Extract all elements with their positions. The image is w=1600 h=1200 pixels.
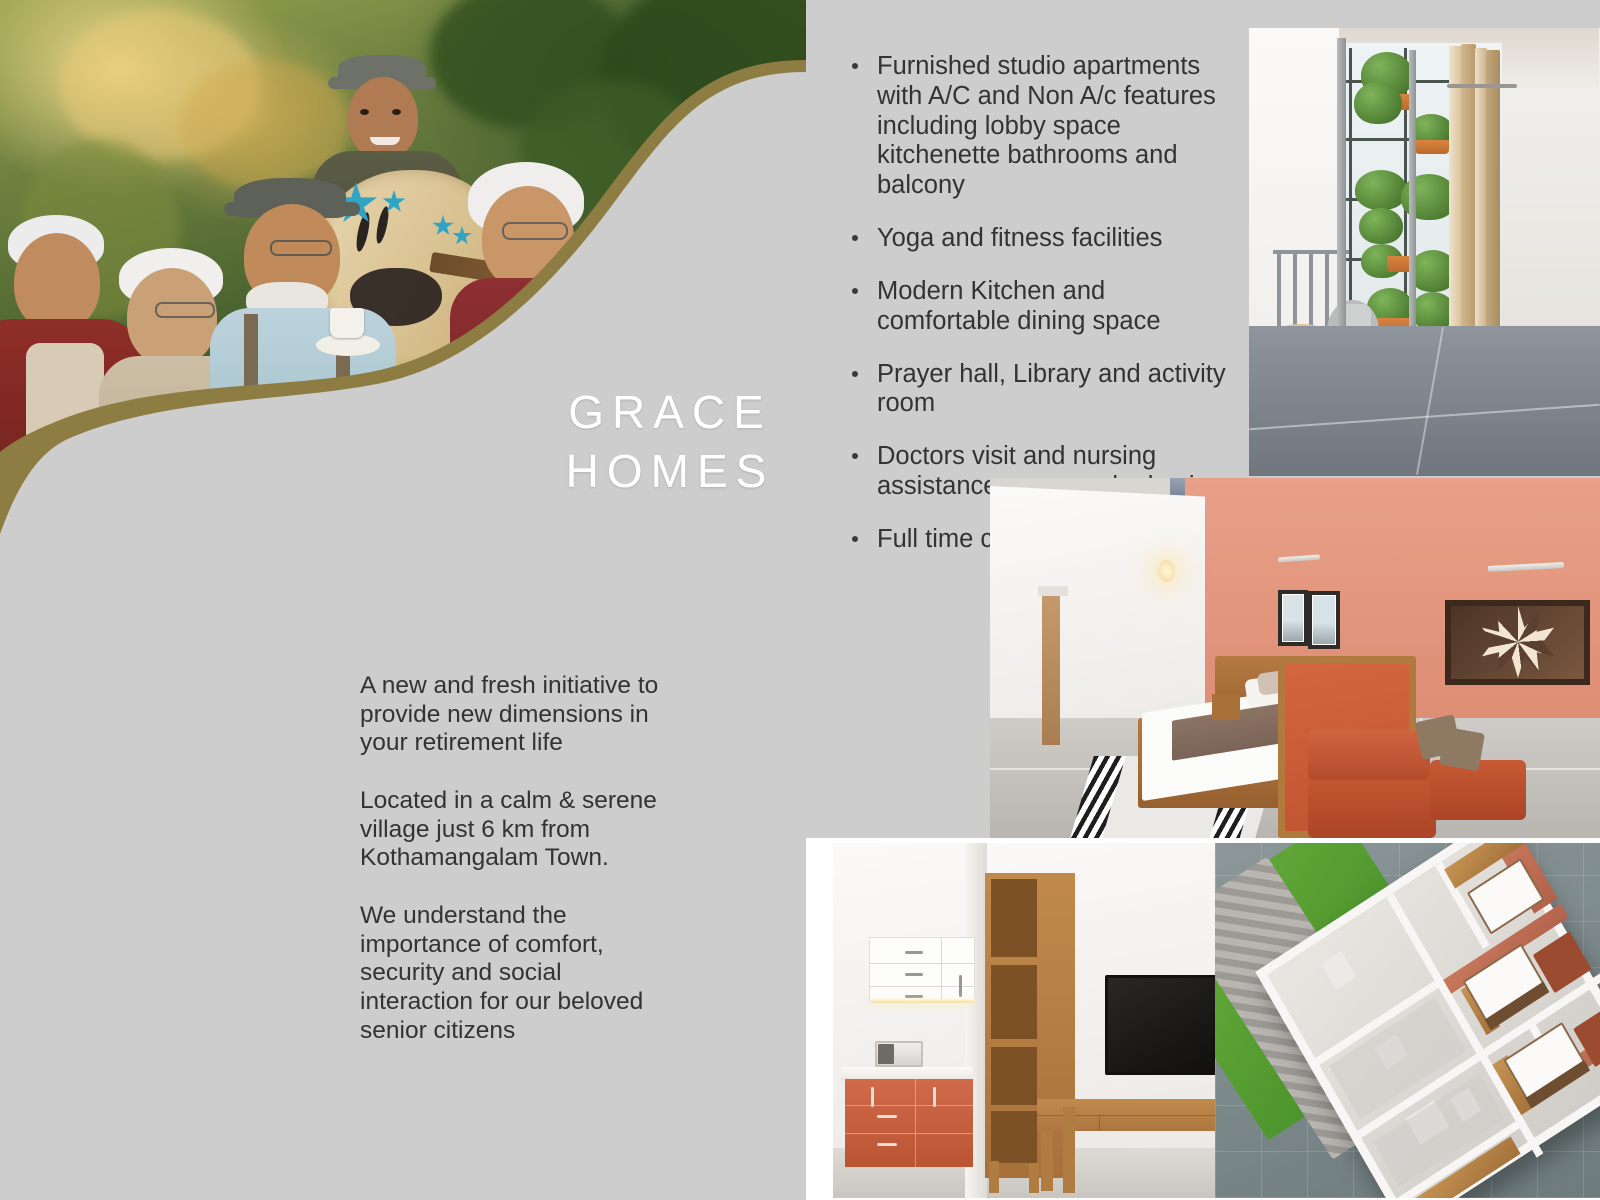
list-item: Furnished studio apartments with A/C and… <box>843 52 1243 201</box>
feature-text: Yoga and fitness facilities <box>877 224 1162 252</box>
photo-balcony-vertical-garden <box>1249 28 1600 476</box>
bullet-dot-icon <box>852 371 858 377</box>
base-cabinet <box>845 1079 973 1167</box>
about-paragraph: Located in a calm & serene village just … <box>360 787 660 873</box>
bullet-dot-icon <box>852 63 858 69</box>
plant-icon <box>1355 170 1407 210</box>
feature-text: Prayer hall, Library and activity room <box>877 360 1226 418</box>
panel-gutter <box>806 838 834 1198</box>
photo-studio-bedroom-living <box>990 478 1600 838</box>
gold-wave-divider <box>0 0 806 600</box>
bullet-dot-icon <box>852 288 858 294</box>
list-item: Prayer hall, Library and activity room <box>843 360 1243 420</box>
feature-text: Modern Kitchen and comfortable dining sp… <box>877 277 1161 335</box>
brand-line-2: HOMES <box>540 442 800 501</box>
brochure-page: GRACE HOMES Furnished studio apartments … <box>0 0 1600 1198</box>
photo-3d-floor-plan <box>1215 843 1600 1198</box>
bullet-dot-icon <box>852 536 858 542</box>
feature-text: Furnished studio apartments with A/C and… <box>877 52 1216 199</box>
list-item: Modern Kitchen and comfortable dining sp… <box>843 277 1243 337</box>
bullet-dot-icon <box>852 453 858 459</box>
hero-photo-seniors-group <box>0 0 806 600</box>
bathroom-fixture-icon <box>1321 951 1356 990</box>
about-paragraph: A new and fresh initiative to provide ne… <box>360 672 660 758</box>
list-item: Yoga and fitness facilities <box>843 224 1243 254</box>
about-text-block: A new and fresh initiative to provide ne… <box>360 672 660 1045</box>
wall-sconce-light-icon <box>1158 560 1175 582</box>
page-title-brand: GRACE HOMES <box>540 383 800 501</box>
cushion <box>1439 727 1485 771</box>
plant-icon <box>1359 208 1403 244</box>
television <box>1105 975 1215 1075</box>
bullet-dot-icon <box>852 235 858 241</box>
brand-line-1: GRACE <box>568 386 772 438</box>
about-paragraph: We understand the importance of comfort,… <box>360 902 660 1045</box>
photo-kitchenette-tv-unit <box>833 843 1215 1198</box>
plant-icon <box>1354 82 1402 124</box>
